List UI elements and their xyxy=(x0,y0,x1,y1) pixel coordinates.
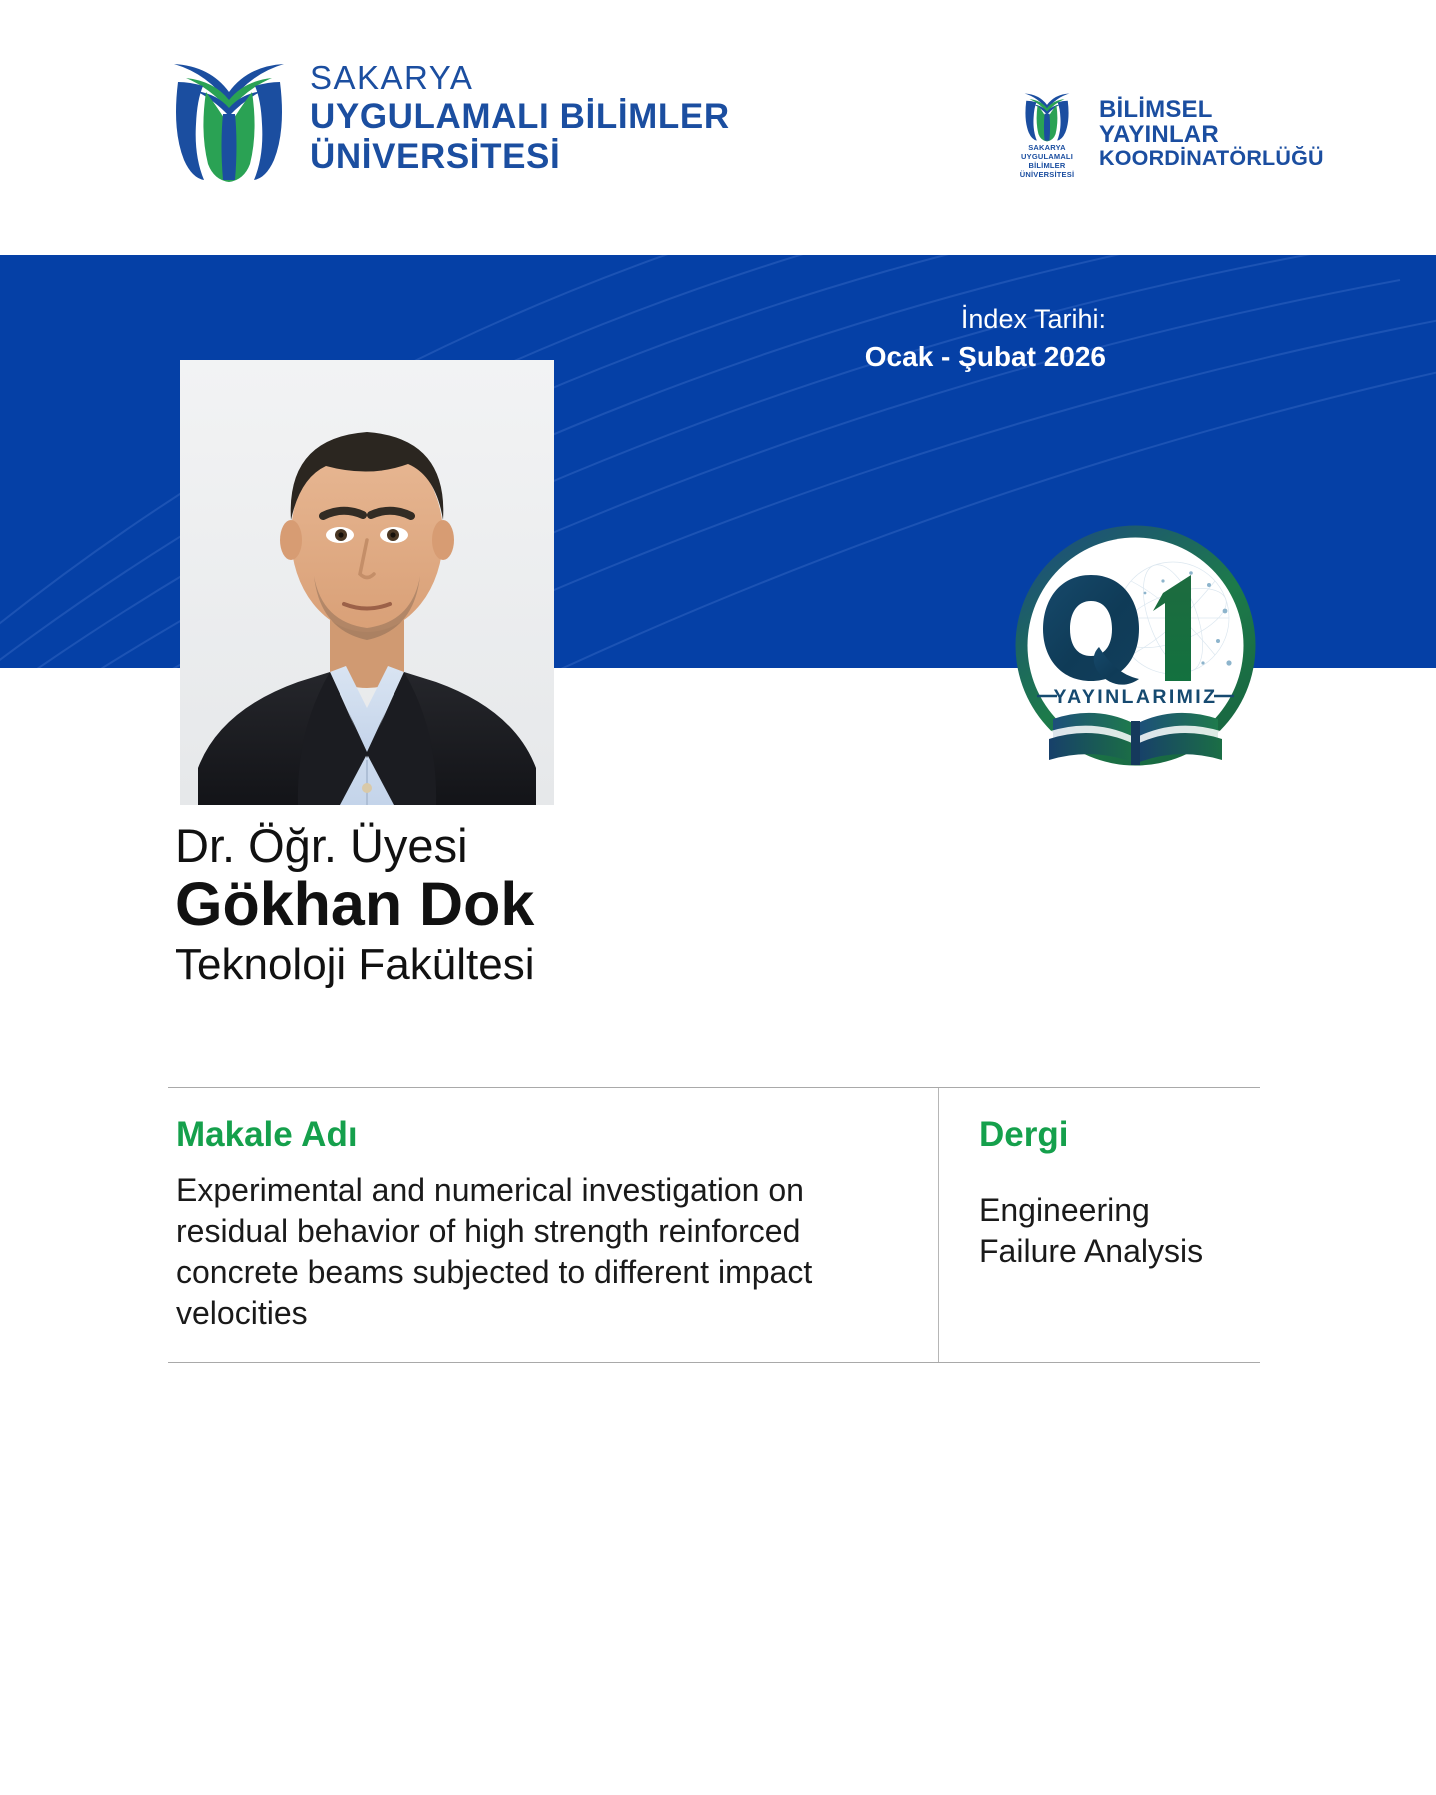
coordinator-sub-line3: ÜNİVERSİTESİ xyxy=(1020,170,1075,179)
q1-badge-caption: YAYINLARIMIZ xyxy=(1054,686,1218,708)
journal-column: Dergi Engineering Failure Analysis xyxy=(938,1088,1260,1362)
university-name-line3: ÜNİVERSİTESİ xyxy=(310,139,730,174)
coordinator-sub-line2: UYGULAMALI BİLİMLER xyxy=(1021,152,1073,170)
article-title: Experimental and numerical investigation… xyxy=(176,1170,868,1334)
journal-heading: Dergi xyxy=(979,1114,1242,1156)
sakarya-tulip-logo-icon xyxy=(170,52,288,182)
portrait-photo xyxy=(180,360,554,805)
journal-name: Engineering Failure Analysis xyxy=(979,1190,1242,1272)
page-header: SAKARYA UYGULAMALI BİLİMLER ÜNİVERSİTESİ… xyxy=(0,0,1436,255)
university-name-line2: UYGULAMALI BİLİMLER xyxy=(310,99,730,134)
article-heading: Makale Adı xyxy=(176,1114,868,1156)
person-faculty: Teknoloji Fakültesi xyxy=(175,940,935,989)
coordinator-line2: YAYINLAR xyxy=(1099,123,1324,148)
university-logo-text: SAKARYA UYGULAMALI BİLİMLER ÜNİVERSİTESİ xyxy=(310,61,730,174)
publication-table: Makale Adı Experimental and numerical in… xyxy=(168,1087,1260,1363)
university-name-line1: SAKARYA xyxy=(310,61,730,94)
coordinator-mark-wrap: SAKARYA UYGULAMALI BİLİMLER ÜNİVERSİTESİ xyxy=(1005,88,1089,179)
coordinator-logo-text: BİLİMSEL YAYINLAR KOORDİNATÖRLÜĞÜ xyxy=(1099,98,1324,170)
person-info: Dr. Öğr. Üyesi Gökhan Dok Teknoloji Fakü… xyxy=(175,820,935,989)
coordinator-line1: BİLİMSEL xyxy=(1099,98,1324,123)
person-title: Dr. Öğr. Üyesi xyxy=(175,820,935,873)
coordinator-subtext: SAKARYA UYGULAMALI BİLİMLER ÜNİVERSİTESİ xyxy=(1005,144,1089,179)
q1-quartile-badge-icon: YAYINLARIMIZ xyxy=(1013,523,1258,768)
coordinator-logo: SAKARYA UYGULAMALI BİLİMLER ÜNİVERSİTESİ… xyxy=(1005,88,1324,179)
university-logo: SAKARYA UYGULAMALI BİLİMLER ÜNİVERSİTESİ xyxy=(170,52,730,182)
sakarya-tulip-logo-small-icon xyxy=(1023,88,1071,142)
index-date-label: İndex Tarihi: xyxy=(865,303,1106,337)
person-name: Gökhan Dok xyxy=(175,871,935,938)
index-date-value: Ocak - Şubat 2026 xyxy=(865,339,1106,374)
index-date-block: İndex Tarihi: Ocak - Şubat 2026 xyxy=(865,303,1106,374)
coordinator-line3: KOORDİNATÖRLÜĞÜ xyxy=(1099,147,1324,169)
coordinator-sub-line1: SAKARYA xyxy=(1028,143,1066,152)
article-column: Makale Adı Experimental and numerical in… xyxy=(168,1088,938,1362)
